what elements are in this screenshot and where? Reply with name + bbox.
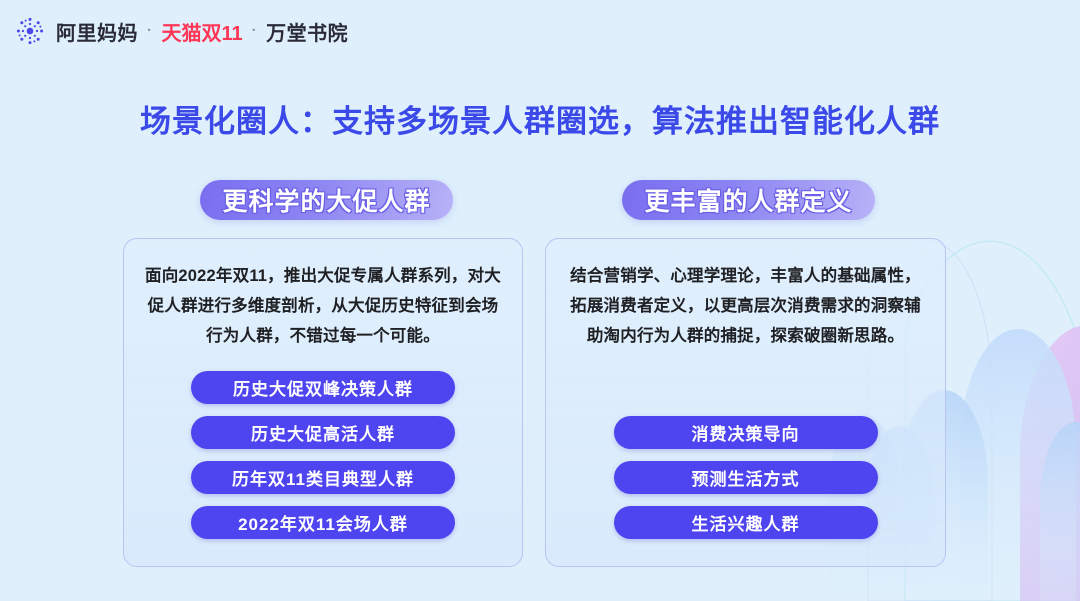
audience-pill[interactable]: 2022年双11会场人群 [191,506,455,539]
audience-pill-label: 生活兴趣人群 [692,510,800,535]
brand-name-tmall-1111: 天猫双11 [162,17,243,46]
page-title: 场景化圈人：支持多场景人群圈选，算法推出智能化人群 [0,96,1080,141]
brand-separator-2: · [252,22,258,39]
audience-pill[interactable]: 生活兴趣人群 [614,506,878,539]
audience-pill-list: 历史大促双峰决策人群 历史大促高活人群 历年双11类目典型人群 2022年双11… [124,371,522,539]
brand-name-wantang: 万堂书院 [266,17,348,46]
card-description: 面向2022年双11，推出大促专属人群系列，对大促人群进行多维度剖析，从大促历史… [124,239,522,351]
audience-pill-label: 预测生活方式 [692,465,800,490]
slide-root: 阿里妈妈 · 天猫双11 · 万堂书院 场景化圈人：支持多场景人群圈选，算法推出… [0,0,1080,601]
card-definition: 结合营销学、心理学理论，丰富人的基础属性，拓展消费者定义，以更高层次消费需求的洞… [545,238,946,567]
audience-pill[interactable]: 预测生活方式 [614,461,878,494]
audience-pill-label: 历史大促双峰决策人群 [233,375,413,400]
alimama-starburst-icon [14,15,46,47]
card-science: 面向2022年双11，推出大促专属人群系列，对大促人群进行多维度剖析，从大促历史… [123,238,523,567]
page-header: 阿里妈妈 · 天猫双11 · 万堂书院 [0,0,1080,62]
audience-pill-label: 2022年双11会场人群 [238,510,408,535]
column-heading-definition: 更丰富的人群定义 [622,180,875,220]
column-heading-label: 更科学的大促人群 [223,182,431,218]
audience-pill[interactable]: 历年双11类目典型人群 [191,461,455,494]
audience-pill-label: 消费决策导向 [692,420,800,445]
audience-pill[interactable]: 历史大促双峰决策人群 [191,371,455,404]
audience-pill-label: 历年双11类目典型人群 [232,465,414,490]
audience-pill-label: 历史大促高活人群 [251,420,395,445]
column-heading-science: 更科学的大促人群 [200,180,453,220]
brand-name-alimama: 阿里妈妈 [56,17,138,46]
brand-separator-1: · [147,22,153,39]
audience-pill[interactable]: 历史大促高活人群 [191,416,455,449]
column-heading-label: 更丰富的人群定义 [645,182,853,218]
brand-lockup: 阿里妈妈 · 天猫双11 · 万堂书院 [56,17,348,46]
card-description: 结合营销学、心理学理论，丰富人的基础属性，拓展消费者定义，以更高层次消费需求的洞… [546,239,945,351]
audience-pill-list: 消费决策导向 预测生活方式 生活兴趣人群 [546,416,945,539]
audience-pill[interactable]: 消费决策导向 [614,416,878,449]
